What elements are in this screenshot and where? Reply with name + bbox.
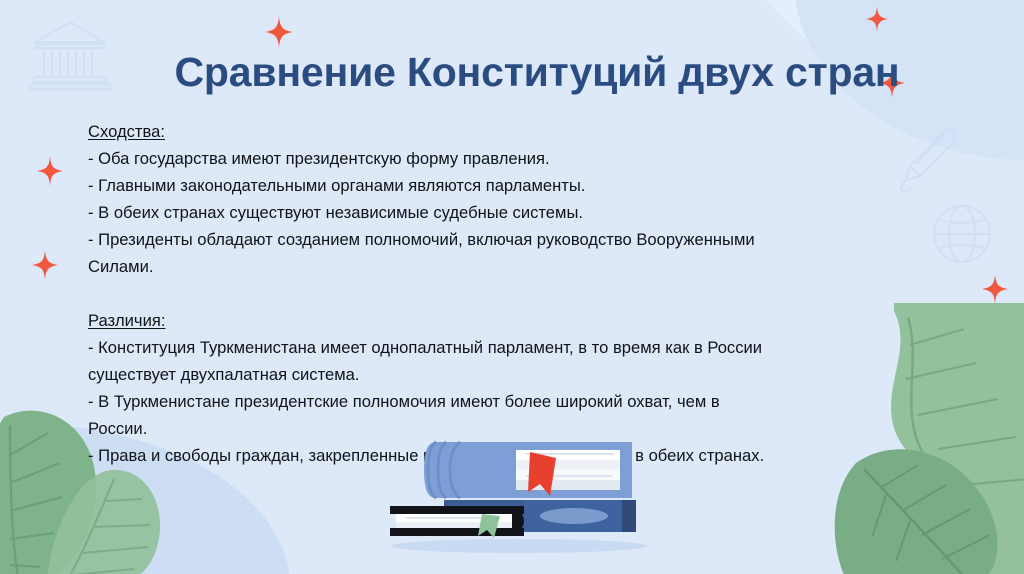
stacked-books-illustration xyxy=(374,436,654,559)
similarities-heading: Сходства: xyxy=(88,118,918,145)
similarities-line: Силами. xyxy=(88,253,918,280)
slide-body: Сходства: - Оба государства имеют презид… xyxy=(88,118,918,469)
sparkle-icon xyxy=(32,250,58,285)
page-title: Сравнение Конституций двух стран xyxy=(174,49,899,96)
similarities-line: - Оба государства имеют президентскую фо… xyxy=(88,145,918,172)
differences-line: - Конституция Туркменистана имеет однопа… xyxy=(88,334,918,361)
similarities-line: - Главными законодательными органами явл… xyxy=(88,172,918,199)
similarities-line: - Президенты обладают созданием полномоч… xyxy=(88,226,918,253)
title-container: Сравнение Конституций двух стран xyxy=(0,22,1024,124)
section-spacer xyxy=(88,280,918,307)
sparkle-icon xyxy=(37,156,63,191)
differences-heading: Различия: xyxy=(88,307,918,334)
slide-canvas: Сравнение Конституций двух стран Сходств… xyxy=(0,0,1024,574)
similarities-line: - В обеих странах существуют независимые… xyxy=(88,199,918,226)
differences-line: - В Туркменистане президентские полномоч… xyxy=(88,388,918,415)
globe-icon xyxy=(928,200,996,273)
differences-line: существует двухпалатная система. xyxy=(88,361,918,388)
similarities-section: Сходства: - Оба государства имеют презид… xyxy=(88,118,918,280)
